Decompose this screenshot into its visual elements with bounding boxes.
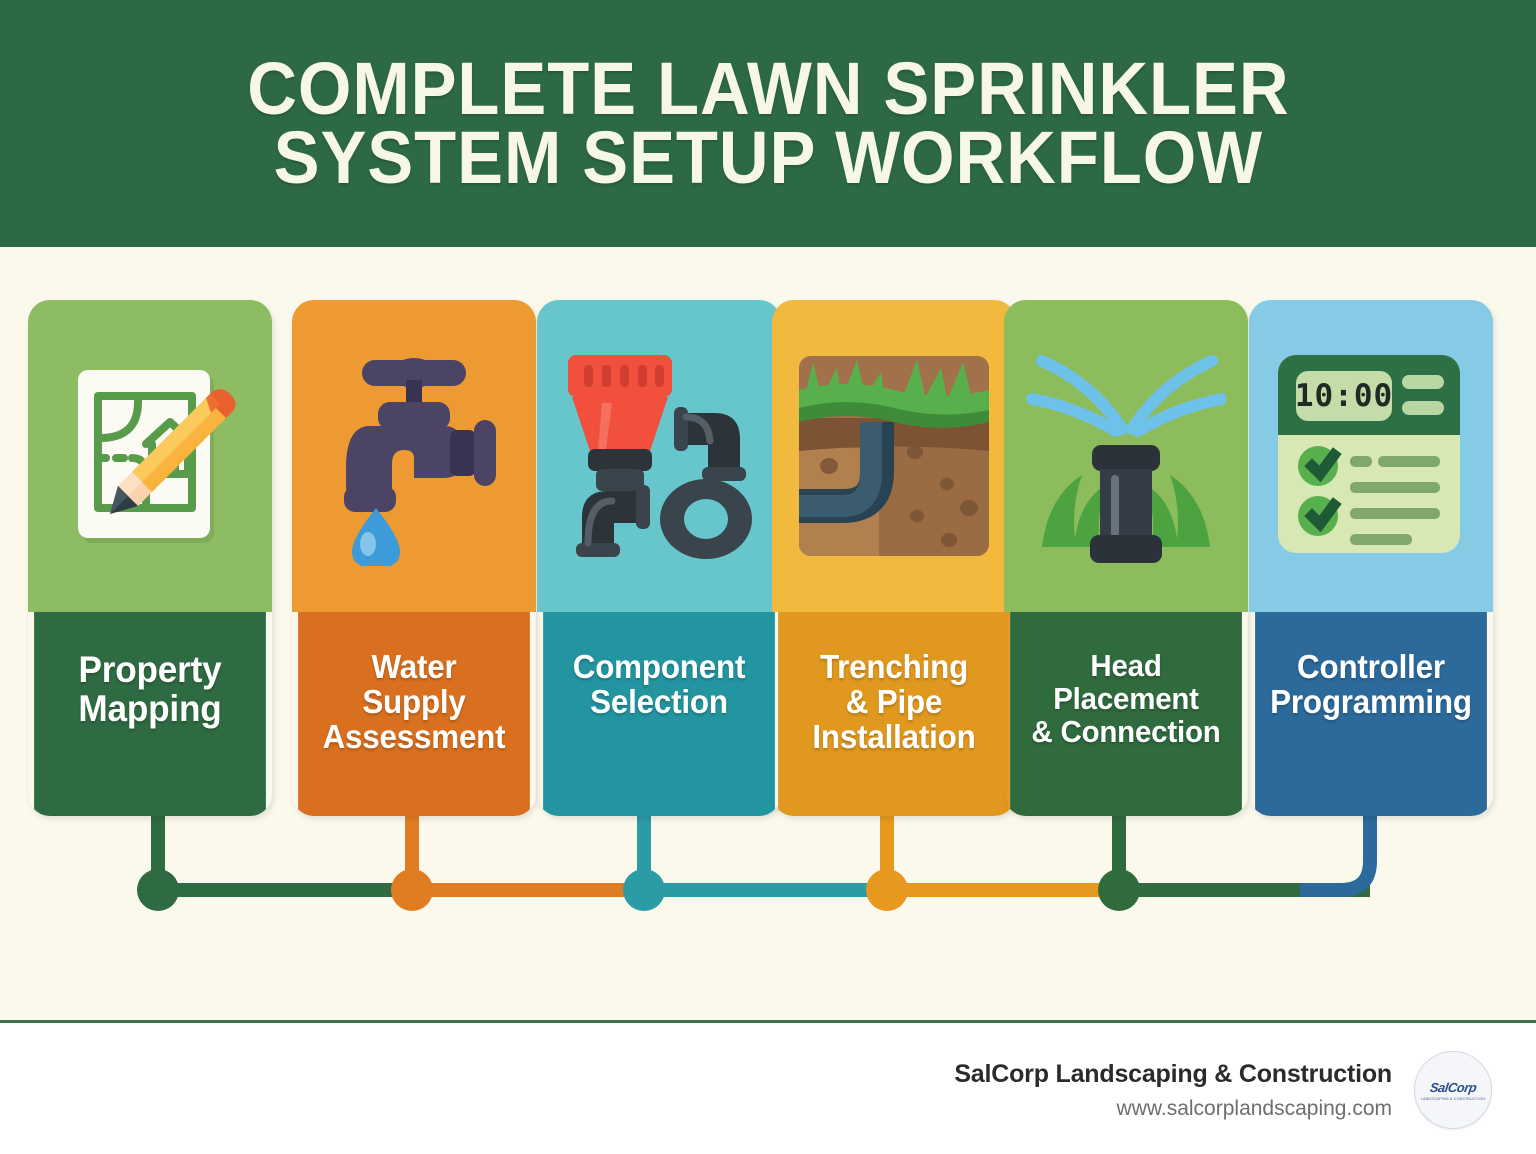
- salcorp-logo: SalCorp LANDSCAPING & CONSTRUCTION: [1414, 1051, 1492, 1129]
- page-title: COMPLETE LAWN SPRINKLER SYSTEM SETUP WOR…: [210, 55, 1327, 191]
- header-banner: COMPLETE LAWN SPRINKLER SYSTEM SETUP WOR…: [0, 0, 1536, 247]
- infographic-page: COMPLETE LAWN SPRINKLER SYSTEM SETUP WOR…: [0, 0, 1536, 1154]
- logo-wordmark: SalCorp: [1429, 1080, 1477, 1095]
- pipe-elbow-icon-2: [576, 485, 650, 557]
- water-droplet-icon: [352, 508, 400, 566]
- step-card-property-mapping[interactable]: Property Mapping: [28, 300, 272, 816]
- connector-segment-4: [880, 883, 1120, 897]
- footer-content: SalCorp Landscaping & Construction www.s…: [954, 1051, 1492, 1129]
- step-label-4: Trenching & Pipe Installation: [778, 612, 1010, 816]
- timeline-node-1: [137, 869, 179, 911]
- pipe-elbow-icon-1: [674, 407, 746, 481]
- sprinkler-nozzle-fittings-icon: [554, 351, 764, 561]
- sprinkler-head-spray-icon: [1026, 349, 1226, 564]
- logo-tagline: LANDSCAPING & CONSTRUCTION: [1421, 1097, 1485, 1101]
- faucet-droplet-icon: [314, 346, 514, 566]
- irrigation-controller-icon: 10:00: [1274, 351, 1469, 561]
- trench-pipe-soil-icon: [799, 356, 989, 556]
- sprinkler-head-icon: [1090, 445, 1162, 563]
- timeline-node-4: [866, 869, 908, 911]
- nozzle-icon: [568, 355, 672, 491]
- step-card-trenching[interactable]: Trenching & Pipe Installation: [772, 300, 1016, 816]
- timeline-node-3: [623, 869, 665, 911]
- step-icon-area-4: [772, 300, 1016, 612]
- blueprint-pencil-icon: [60, 356, 240, 556]
- connector-segment-3: [637, 883, 887, 897]
- step-label-2: Water Supply Assessment: [298, 612, 530, 816]
- footer-text-block: SalCorp Landscaping & Construction www.s…: [954, 1059, 1392, 1121]
- controller-time-display: 10:00: [1294, 378, 1392, 414]
- controller-button-2: [1402, 401, 1444, 415]
- step-icon-area-6: 10:00: [1249, 300, 1493, 612]
- step-icon-area-3: [537, 300, 781, 612]
- timeline-node-5: [1098, 869, 1140, 911]
- step-label-1: Property Mapping: [34, 612, 266, 816]
- timeline-node-2: [391, 869, 433, 911]
- step-icon-area-5: [1004, 300, 1248, 612]
- company-name: SalCorp Landscaping & Construction: [954, 1059, 1392, 1090]
- step-label-3: Component Selection: [543, 612, 775, 816]
- controller-button-1: [1402, 375, 1444, 389]
- step-card-controller-programming[interactable]: 10:00: [1249, 300, 1493, 816]
- step-icon-area-2: [292, 300, 536, 612]
- step-icon-area-1: [28, 300, 272, 612]
- step-label-6: Controller Programming: [1255, 612, 1487, 816]
- connector-segment-2: [405, 883, 645, 897]
- connector-segment-5: [1112, 883, 1370, 897]
- step-card-head-placement[interactable]: Head Placement & Connection: [1004, 300, 1248, 816]
- connector-segment-1: [158, 883, 413, 897]
- company-website[interactable]: www.salcorplandscaping.com: [954, 1096, 1392, 1121]
- workflow-canvas: Property Mapping: [0, 247, 1536, 1023]
- step-label-5: Head Placement & Connection: [1010, 612, 1242, 816]
- workflow-steps: Property Mapping: [0, 300, 1536, 820]
- water-spray-arcs: [1032, 361, 1222, 431]
- pipe-ring-icon: [660, 479, 752, 559]
- step-card-water-supply[interactable]: Water Supply Assessment: [292, 300, 536, 816]
- step-card-component-selection[interactable]: Component Selection: [537, 300, 781, 816]
- footer-bar: SalCorp Landscaping & Construction www.s…: [0, 1023, 1536, 1154]
